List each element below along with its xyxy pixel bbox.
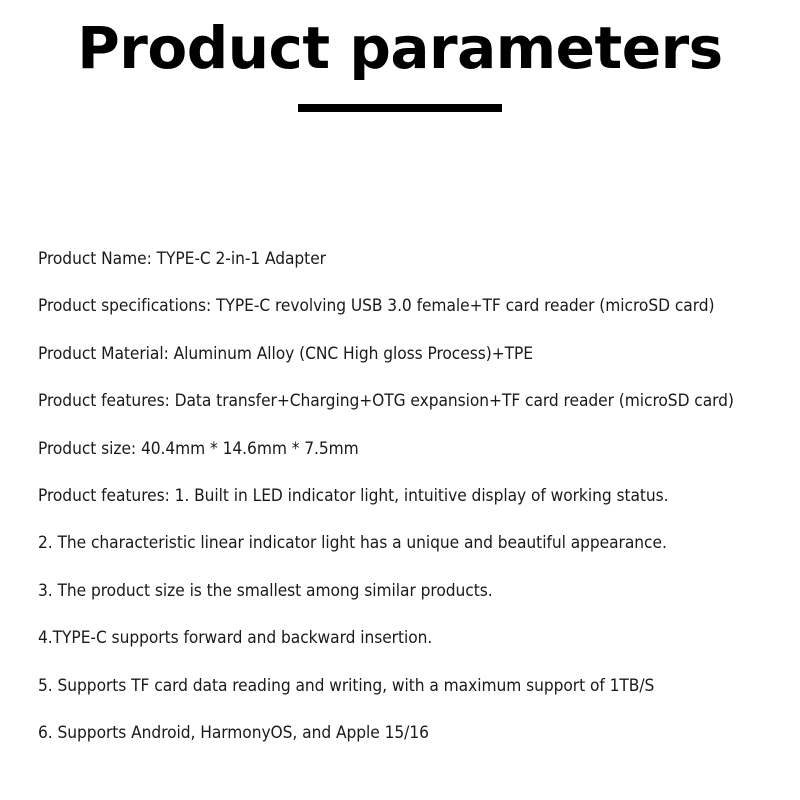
spec-line: Product Name: TYPE-C 2-in-1 Adapter xyxy=(38,236,778,283)
spec-line: 4.TYPE-C supports forward and backward i… xyxy=(38,615,778,662)
spec-line: 5. Supports TF card data reading and wri… xyxy=(38,663,778,710)
spec-line: 3. The product size is the smallest amon… xyxy=(38,568,778,615)
spec-line: Product specifications: TYPE-C revolving… xyxy=(38,283,778,330)
spec-line: 2. The characteristic linear indicator l… xyxy=(38,520,778,567)
product-parameters-page: Product parameters Product Name: TYPE-C … xyxy=(0,0,800,800)
title-underline-bar xyxy=(298,104,502,112)
spec-line: Product size: 40.4mm * 14.6mm * 7.5mm xyxy=(38,426,778,473)
spec-list: Product Name: TYPE-C 2-in-1 Adapter Prod… xyxy=(38,236,778,757)
spec-line: Product features: Data transfer+Charging… xyxy=(38,378,778,425)
spec-line: Product Material: Aluminum Alloy (CNC Hi… xyxy=(38,331,778,378)
spec-line: 6. Supports Android, HarmonyOS, and Appl… xyxy=(38,710,778,757)
page-title: Product parameters xyxy=(0,0,800,82)
spec-line: Product features: 1. Built in LED indica… xyxy=(38,473,778,520)
page-header: Product parameters xyxy=(0,0,800,112)
